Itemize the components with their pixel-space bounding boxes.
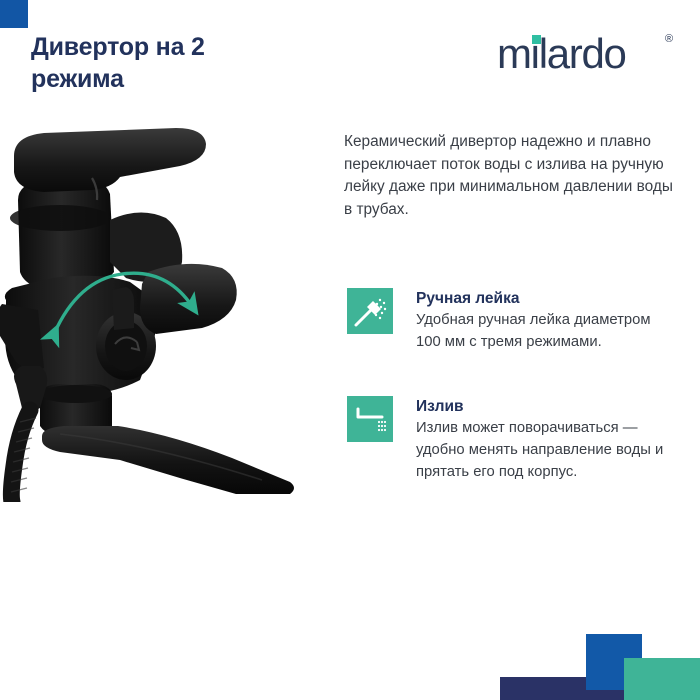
brand-logo: milardo ® (497, 33, 626, 73)
registered-trademark-icon: ® (665, 34, 673, 45)
product-image (0, 122, 300, 502)
hand-shower-icon (347, 288, 393, 334)
intro-paragraph: Керамический дивертор надежно и плавно п… (344, 131, 674, 222)
brand-logo-wordmark: milardo (497, 33, 626, 75)
feature-heading: Ручная лейка (416, 289, 677, 308)
feature-hand-shower: Ручная лейка Удобная ручная лейка диамет… (347, 288, 677, 354)
corner-accent-square (0, 0, 28, 28)
feature-heading: Излив (416, 397, 677, 416)
spout-icon (347, 396, 393, 442)
promo-page: Дивертор на 2 режима milardo ® (0, 0, 700, 700)
feature-spout: Излив Излив может поворачиваться — удобн… (347, 396, 677, 483)
brand-logo-dot-icon (532, 35, 541, 44)
page-title: Дивертор на 2 режима (31, 31, 291, 95)
feature-text: Удобная ручная лейка диаметром 100 мм с … (416, 310, 677, 353)
feature-text: Излив может поворачиваться — удобно меня… (416, 418, 677, 483)
decor-teal-rect (624, 658, 700, 700)
